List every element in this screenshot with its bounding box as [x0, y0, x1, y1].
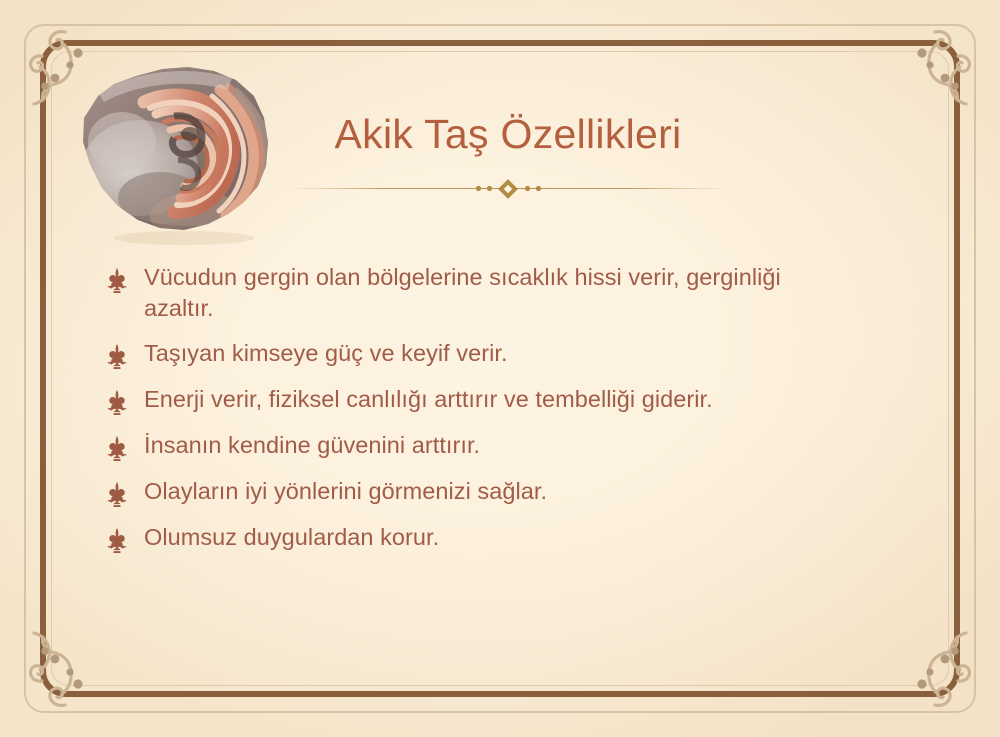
akik-stone-info-card: Akik Taş Özellikleri Vücudun gergin olan… [0, 0, 1000, 737]
fleur-de-lis-bullet-icon [104, 266, 130, 294]
list-item: Enerji verir, fiziksel canlılığı arttırı… [104, 384, 874, 416]
fleur-de-lis-bullet-icon [104, 388, 130, 416]
divider-dot [536, 186, 541, 191]
list-item: Vücudun gergin olan bölgelerine sıcaklık… [104, 262, 874, 324]
list-item: İnsanın kendine güvenini arttırır. [104, 430, 874, 462]
list-item-label: Enerji verir, fiziksel canlılığı arttırı… [144, 384, 713, 415]
list-item-label: Olumsuz duygulardan korur. [144, 522, 439, 553]
agate-stone-image [78, 56, 290, 252]
divider-dot [525, 186, 530, 191]
list-item: Taşıyan kimseye güç ve keyif verir. [104, 338, 874, 370]
divider-dot [476, 186, 481, 191]
divider-dot [487, 186, 492, 191]
fleur-de-lis-bullet-icon [104, 342, 130, 370]
page-title: Akik Taş Özellikleri [288, 112, 728, 158]
title-block: Akik Taş Özellikleri [288, 112, 728, 198]
list-item: Olumsuz duygulardan korur. [104, 522, 874, 554]
list-item-label: İnsanın kendine güvenini arttırır. [144, 430, 480, 461]
diamond-ornament-divider-icon [288, 180, 728, 198]
fleur-de-lis-bullet-icon [104, 526, 130, 554]
corner-flourish-icon-bottom-left [18, 601, 136, 719]
fleur-de-lis-bullet-icon [104, 434, 130, 462]
list-item: Olayların iyi yönlerini görmenizi sağlar… [104, 476, 874, 508]
list-item-label: Taşıyan kimseye güç ve keyif verir. [144, 338, 508, 369]
divider-diamond-icon [498, 179, 518, 199]
fleur-de-lis-bullet-icon [104, 480, 130, 508]
list-item-label: Vücudun gergin olan bölgelerine sıcaklık… [144, 262, 844, 324]
corner-flourish-icon-top-right [864, 18, 982, 136]
properties-list: Vücudun gergin olan bölgelerine sıcaklık… [104, 262, 874, 554]
list-item-label: Olayların iyi yönlerini görmenizi sağlar… [144, 476, 547, 507]
corner-flourish-icon-bottom-right [864, 601, 982, 719]
